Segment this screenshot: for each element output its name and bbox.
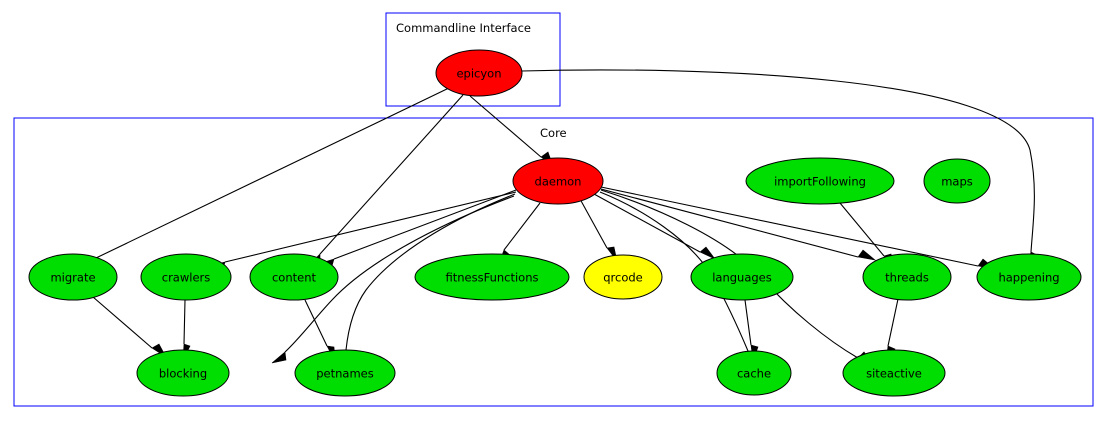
node-label-blocking: blocking (159, 367, 207, 381)
node-happening[interactable]: happening (977, 254, 1081, 300)
node-layer: epicyondaemonimportFollowingmapsmigratec… (29, 50, 1081, 396)
edge-epicyon-to-content (307, 95, 463, 268)
node-label-daemon: daemon (535, 175, 582, 189)
node-label-siteactive: siteactive (866, 367, 922, 381)
cluster-label-core: Core (540, 126, 567, 140)
node-epicyon[interactable]: epicyon (436, 50, 522, 96)
graph-canvas: Commandline InterfaceCoreepicyondaemonim… (0, 0, 1109, 424)
node-daemon[interactable]: daemon (513, 158, 603, 204)
node-siteactive[interactable]: siteactive (843, 350, 945, 396)
node-label-maps: maps (941, 175, 973, 189)
node-blocking[interactable]: blocking (137, 350, 229, 396)
edge-migrate-to-blocking (93, 297, 166, 357)
node-label-migrate: migrate (50, 271, 95, 285)
edge-line (96, 87, 451, 258)
node-label-cache: cache (737, 367, 771, 381)
edge-line (320, 95, 463, 254)
dependency-graph: Commandline InterfaceCoreepicyondaemonim… (0, 0, 1109, 424)
node-languages[interactable]: languages (691, 254, 793, 300)
node-label-petnames: petnames (316, 367, 374, 381)
edge-daemon-to-qrcode (580, 199, 617, 261)
node-label-fitnessFunctions: fitnessFunctions (445, 271, 538, 285)
arrowhead-icon (858, 250, 875, 260)
node-label-languages: languages (712, 271, 772, 285)
node-label-crawlers: crawlers (162, 271, 211, 285)
node-fitnessFunctions[interactable]: fitnessFunctions (415, 254, 569, 300)
edge-line (840, 203, 884, 256)
node-qrcode[interactable]: qrcode (584, 255, 662, 299)
edge-line (504, 203, 540, 250)
node-cache[interactable]: cache (717, 351, 791, 395)
node-content[interactable]: content (250, 254, 338, 300)
cluster-label-cli: Commandline Interface (396, 21, 531, 35)
edge-line (93, 297, 152, 348)
arrowhead-icon (272, 352, 286, 363)
node-petnames[interactable]: petnames (295, 350, 395, 396)
edge-line (184, 300, 185, 344)
edge-line (334, 190, 516, 259)
edge-line (580, 199, 607, 248)
node-crawlers[interactable]: crawlers (141, 254, 231, 300)
arrowhead-icon (700, 247, 715, 259)
node-label-threads: threads (885, 271, 929, 285)
node-label-happening: happening (998, 271, 1059, 285)
node-label-qrcode: qrcode (603, 271, 643, 285)
edge-epicyon-to-migrate (80, 87, 451, 272)
node-importFollowing[interactable]: importFollowing (746, 158, 894, 204)
node-migrate[interactable]: migrate (29, 254, 117, 300)
node-threads[interactable]: threads (863, 254, 951, 300)
node-label-importFollowing: importFollowing (774, 175, 866, 189)
node-label-epicyon: epicyon (456, 67, 501, 81)
node-label-content: content (272, 271, 317, 285)
edge-line (888, 299, 898, 346)
edge-layer (80, 70, 1037, 366)
edge-line (305, 300, 327, 346)
node-maps[interactable]: maps (924, 159, 990, 203)
edge-line (470, 96, 541, 157)
edge-line (225, 192, 516, 262)
edge-line (745, 300, 751, 345)
